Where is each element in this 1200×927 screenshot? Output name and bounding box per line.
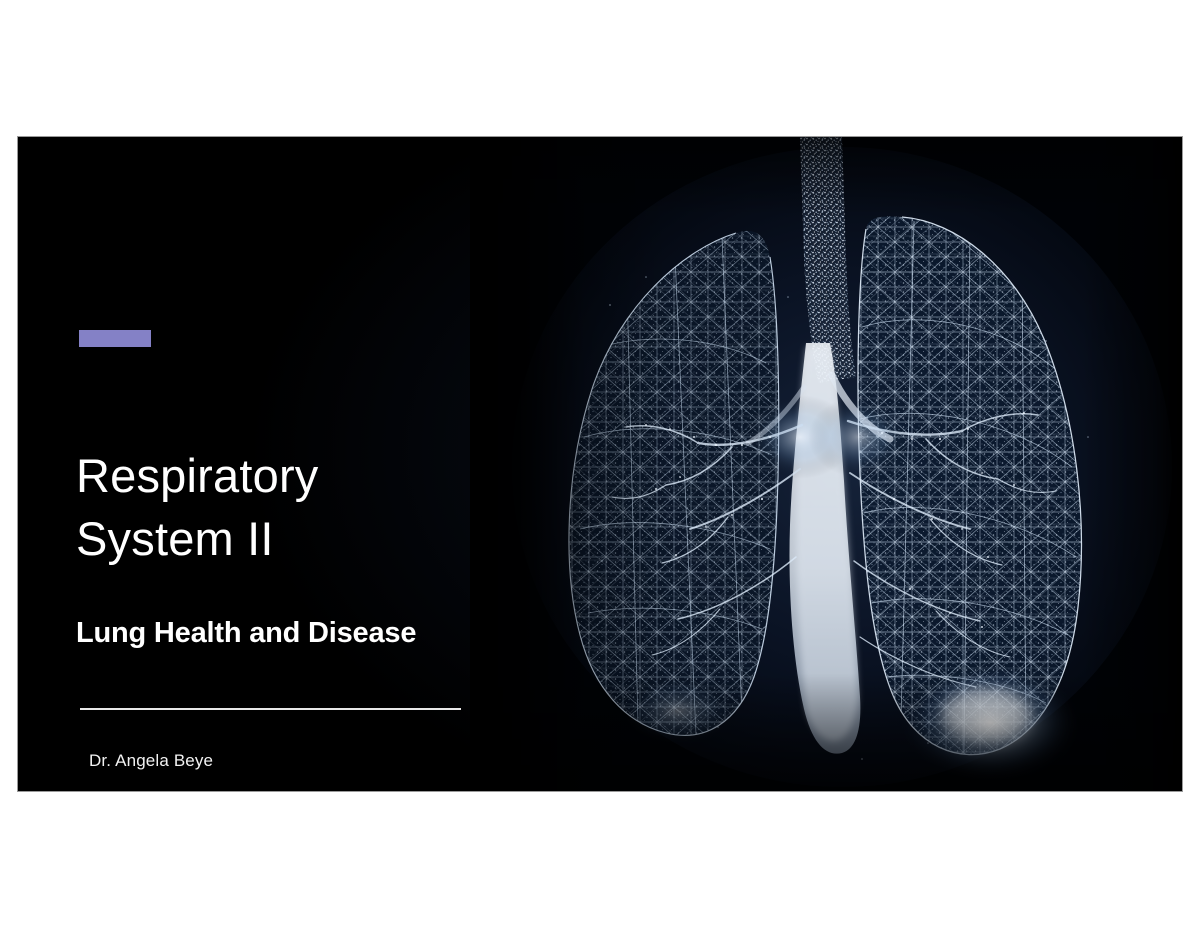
byline: Dr. Angela Beye abeye2@uwo.ca (89, 742, 489, 791)
lung-wireframe-illustration (470, 137, 1182, 791)
author-name: Dr. Angela Beye (89, 742, 489, 781)
accent-bar (79, 330, 151, 347)
author-email: abeye2@uwo.ca (89, 781, 489, 791)
page-canvas: Respiratory System II Lung Health and Di… (0, 0, 1200, 927)
presentation-slide: Respiratory System II Lung Health and Di… (18, 137, 1182, 791)
page-subtitle: Lung Health and Disease (76, 617, 546, 650)
title-divider (80, 708, 461, 710)
page-title: Respiratory System II (76, 445, 516, 571)
